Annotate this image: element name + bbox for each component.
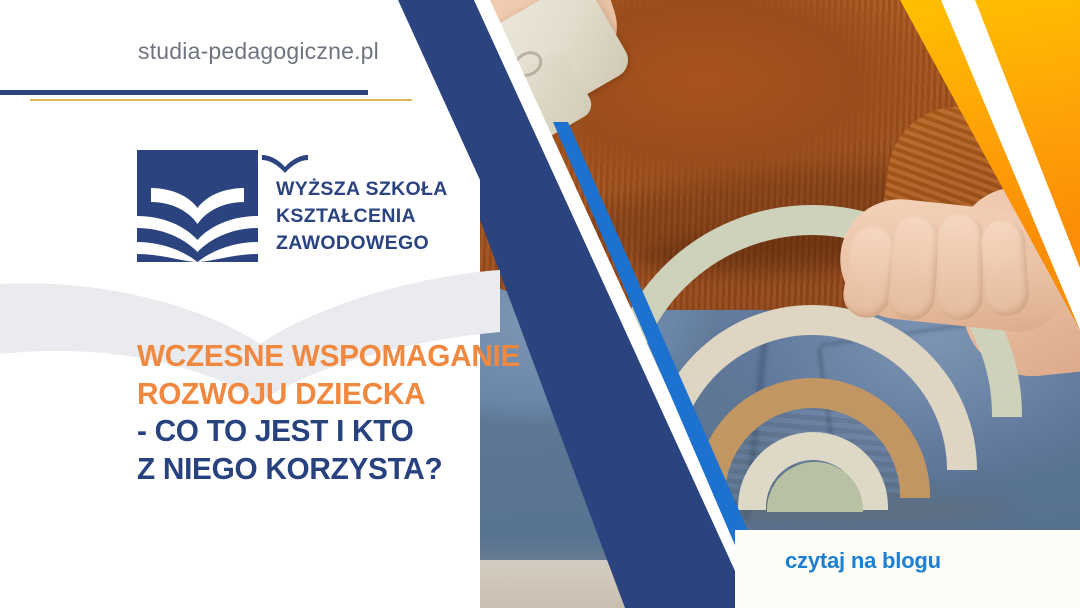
- headline: WCZESNE WSPOMAGANIE ROZWOJU DZIECKA - CO…: [137, 337, 537, 487]
- bird-check-icon: [261, 154, 309, 176]
- logo-line-1: WYŻSZA SZKOŁA: [276, 176, 448, 203]
- logo-line-3: ZAWODOWEGO: [276, 230, 448, 257]
- logo-wordmark: WYŻSZA SZKOŁA KSZTAŁCENIA ZAWODOWEGO: [276, 176, 448, 257]
- photo-finger: [936, 214, 984, 321]
- headline-line-2: ROZWOJU DZIECKA: [137, 375, 521, 413]
- site-url: studia-pedagogiczne.pl: [138, 38, 379, 65]
- header-rule-gold: [30, 99, 412, 101]
- headline-line-4: Z NIEGO KORZYSTA?: [137, 450, 521, 488]
- headline-line-3: - CO TO JEST I KTO: [137, 412, 521, 450]
- headline-line-1: WCZESNE WSPOMAGANIE: [137, 337, 521, 375]
- blog-promo-banner: studia-pedagogiczne.pl WYŻSZA SZKOŁA KSZ…: [0, 0, 1080, 608]
- photo-finger: [980, 219, 1031, 318]
- cta-read-on-blog[interactable]: czytaj na blogu: [785, 548, 941, 574]
- header-rule-navy: [0, 90, 368, 95]
- logo-line-2: KSZTAŁCENIA: [276, 203, 448, 230]
- open-book-icon: [137, 150, 258, 262]
